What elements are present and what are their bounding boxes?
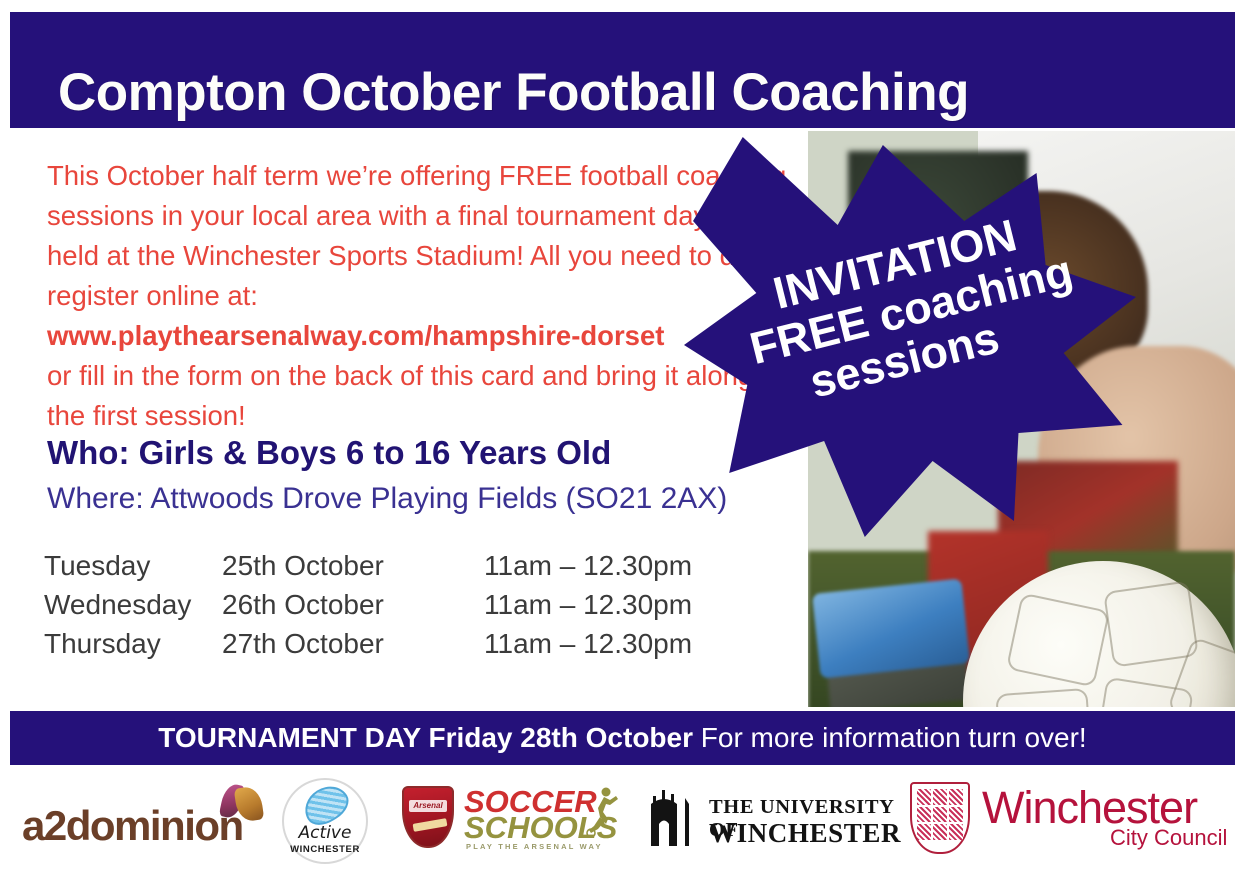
session-time: 11am – 12.30pm xyxy=(484,589,744,628)
tournament-day-label: TOURNAMENT DAY Friday 28th October xyxy=(158,722,693,753)
arsenal-tagline: PLAY THE ARSENAL WAY xyxy=(466,842,603,851)
logo-arsenal-soccer-schools: Arsenal SOCCER SCHOOLS PLAY THE ARSENAL … xyxy=(402,780,622,860)
session-date: 27th October xyxy=(222,628,484,667)
a2dominion-wordmark: a2dominion xyxy=(22,802,243,850)
who-line: Who: Girls & Boys 6 to 16 Years Old xyxy=(47,434,611,472)
cathedral-arch-icon xyxy=(645,784,701,846)
cannon-icon xyxy=(413,818,448,832)
arsenal-crest-icon: Arsenal xyxy=(402,786,454,848)
city-council-subtitle: City Council xyxy=(1110,825,1227,851)
header-band: Compton October Football Coaching xyxy=(10,12,1235,128)
logo-active-winchester: Active WINCHESTER xyxy=(282,778,368,864)
session-day: Tuesday xyxy=(44,550,222,589)
sponsor-logo-strip: a2dominion Active WINCHESTER Arsenal SOC… xyxy=(10,772,1235,868)
table-row: Wednesday 26th October 11am – 12.30pm xyxy=(44,589,744,628)
tournament-banner: TOURNAMENT DAY Friday 28th October For m… xyxy=(10,711,1235,765)
session-date: 26th October xyxy=(222,589,484,628)
session-day: Thursday xyxy=(44,628,222,667)
table-row: Thursday 27th October 11am – 12.30pm xyxy=(44,628,744,667)
heraldic-shield-icon xyxy=(910,782,970,854)
registration-url[interactable]: www.playthearsenalway.com/hampshire-dors… xyxy=(47,316,795,356)
intro-copy: This October half term we’re offering FR… xyxy=(47,156,795,436)
active-winchester-line-1: Active xyxy=(284,823,366,843)
session-day: Wednesday xyxy=(44,589,222,628)
table-row: Tuesday 25th October 11am – 12.30pm xyxy=(44,550,744,589)
intro-paragraph-1: This October half term we’re offering FR… xyxy=(47,156,795,316)
shield-pattern xyxy=(917,789,963,840)
arsenal-crest-word: Arsenal xyxy=(404,801,452,810)
footballer-silhouette-icon xyxy=(586,786,620,838)
session-time: 11am – 12.30pm xyxy=(484,628,744,667)
page-title: Compton October Football Coaching xyxy=(58,62,969,123)
tournament-banner-text: TOURNAMENT DAY Friday 28th October For m… xyxy=(10,722,1235,754)
active-winchester-line-2: WINCHESTER xyxy=(284,844,366,855)
tournament-info-label: For more information turn over! xyxy=(693,722,1087,753)
where-line: Where: Attwoods Drove Playing Fields (SO… xyxy=(47,482,727,516)
logo-university-of-winchester: THE UNIVERSITY OF WINCHESTER xyxy=(645,784,895,856)
session-time: 11am – 12.30pm xyxy=(484,550,744,589)
session-date: 25th October xyxy=(222,550,484,589)
photo-blue-bag xyxy=(812,578,970,678)
university-line-2: WINCHESTER xyxy=(709,818,901,849)
invitation-star-badge: INVITATION FREE coaching sessions xyxy=(684,137,1136,537)
logo-a2dominion: a2dominion xyxy=(22,784,272,856)
ball-panel xyxy=(1103,580,1199,667)
intro-paragraph-2: or fill in the form on the back of this … xyxy=(47,356,795,436)
session-schedule: Tuesday 25th October 11am – 12.30pm Wedn… xyxy=(44,550,744,667)
flyer-root: Compton October Football Coaching mitre … xyxy=(0,0,1241,874)
logo-winchester-city-council: Winchester City Council xyxy=(910,778,1230,864)
